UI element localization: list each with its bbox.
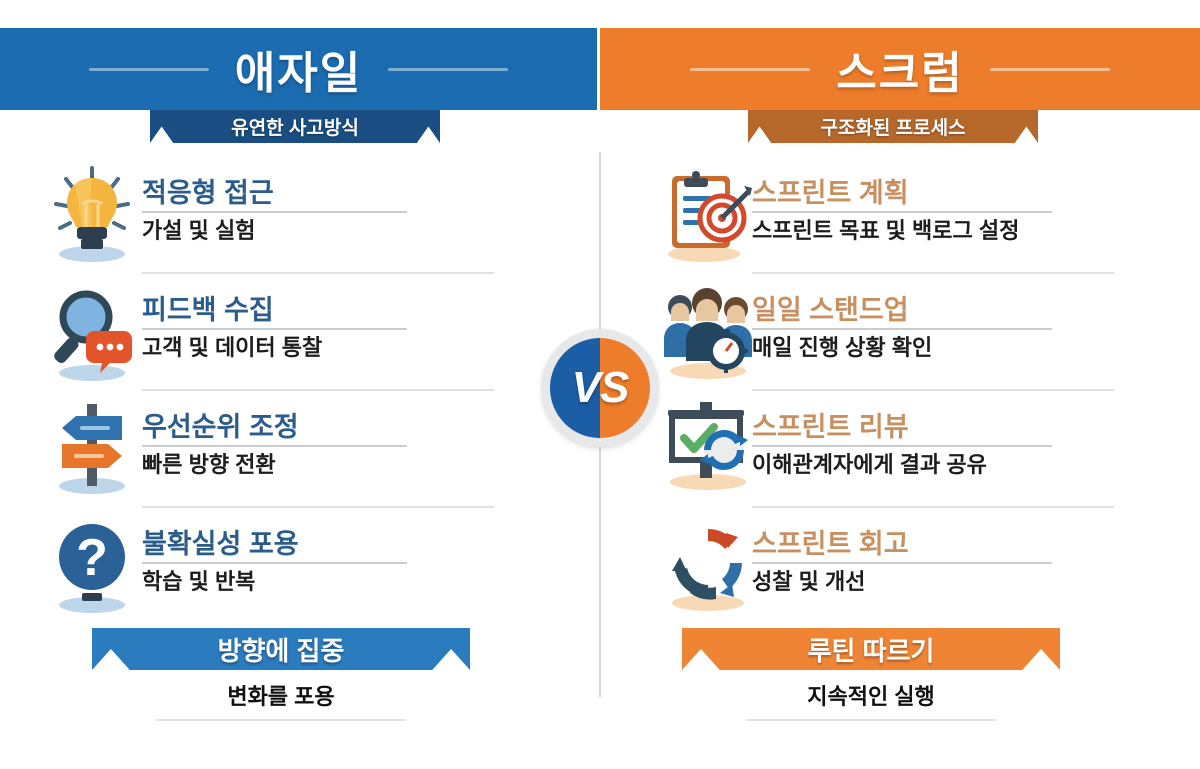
item-title: 일일 스탠드업 [752,295,1052,330]
vs-badge: VS [541,329,659,447]
item-body: 불확실성 포용 학습 및 반복 [142,511,502,595]
clipboard-target-icon [652,160,752,270]
header-rule-left [89,68,209,71]
item-title: 적응형 접근 [142,178,407,213]
right-banner-subtitle: 지속적인 실행 [682,679,1060,711]
left-subtitle-ribbon: 유연한 사고방식 [150,110,440,143]
left-banner-title: 방향에 집중 [218,631,345,668]
item-title: 피드백 수집 [142,295,407,330]
item-subtitle: 스프린트 목표 및 백로그 설정 [752,218,1122,243]
item-subtitle: 매일 진행 상황 확인 [752,335,1122,360]
left-header-title: 애자일 [209,37,388,101]
left-header-bar: 애자일 [0,28,597,110]
list-item: ? 불확실성 포용 학습 및 반복 [42,511,502,628]
right-banner-title: 루틴 따르기 [808,631,935,668]
svg-text:?: ? [76,529,108,587]
item-body: 우선순위 조정 빠른 방향 전환 [142,394,502,478]
column-divider-bottom [599,432,601,697]
left-banner-subtitle: 변화를 포용 [92,679,470,711]
item-subtitle: 가설 및 실험 [142,218,502,243]
item-body: 스프린트 회고 성찰 및 개선 [752,511,1122,595]
list-item: 우선순위 조정 빠른 방향 전환 [42,394,502,511]
team-stopwatch-icon [652,277,752,387]
list-item: 스프린트 리뷰 이해관계자에게 결과 공유 [652,394,1122,511]
header-rule-right [990,68,1110,71]
item-title: 스프린트 회고 [752,529,1052,564]
item-subtitle: 빠른 방향 전환 [142,452,502,477]
item-body: 일일 스탠드업 매일 진행 상황 확인 [752,277,1122,361]
right-header-title: 스크럼 [810,37,989,101]
item-subtitle: 성찰 및 개선 [752,569,1122,594]
list-item: 일일 스탠드업 매일 진행 상황 확인 [652,277,1122,394]
question-mark-icon: ? [42,511,142,621]
vs-circle: VS [550,338,650,438]
list-item: 스프린트 회고 성찰 및 개선 [652,511,1122,628]
header-rule-right [388,68,508,71]
item-subtitle: 고객 및 데이터 통찰 [142,335,502,360]
right-subtitle-ribbon: 구조화된 프로세스 [748,110,1038,143]
cycle-arrows-icon [652,511,752,621]
magnifier-chat-icon [42,277,142,387]
right-bottom-banner: 루틴 따르기 지속적인 실행 [682,628,1060,721]
right-column: 스프린트 계획 스프린트 목표 및 백로그 설정 [652,160,1122,628]
left-banner-bar: 방향에 집중 [92,628,470,670]
list-item: 적응형 접근 가설 및 실험 [42,160,502,277]
item-title: 불확실성 포용 [142,529,407,564]
item-body: 스프린트 리뷰 이해관계자에게 결과 공유 [752,394,1122,478]
left-banner-rule [156,719,406,721]
list-item: 스프린트 계획 스프린트 목표 및 백로그 설정 [652,160,1122,277]
right-banner-rule [746,719,996,721]
left-ribbon-text: 유연한 사고방식 [231,113,359,140]
item-body: 피드백 수집 고객 및 데이터 통찰 [142,277,502,361]
header-rule-left [690,68,810,71]
vs-label: VS [572,363,629,413]
item-subtitle: 학습 및 반복 [142,569,502,594]
item-title: 우선순위 조정 [142,412,407,447]
right-banner-bar: 루틴 따르기 [682,628,1060,670]
column-divider-top [599,152,601,332]
item-title: 스프린트 리뷰 [752,412,1052,447]
item-body: 스프린트 계획 스프린트 목표 및 백로그 설정 [752,160,1122,244]
left-bottom-banner: 방향에 집중 변화를 포용 [92,628,470,721]
right-ribbon-text: 구조화된 프로세스 [820,113,965,140]
item-title: 스프린트 계획 [752,178,1052,213]
list-item: 피드백 수집 고객 및 데이터 통찰 [42,277,502,394]
item-body: 적응형 접근 가설 및 실험 [142,160,502,244]
lightbulb-icon [42,160,142,270]
whiteboard-refresh-icon [652,394,752,504]
signpost-icon [42,394,142,504]
right-header-bar: 스크럼 [600,28,1200,110]
infographic-page: 애자일 유연한 사고방식 스크럼 구조화된 프로세스 VS [0,0,1200,769]
item-subtitle: 이해관계자에게 결과 공유 [752,452,1122,477]
left-column: 적응형 접근 가설 및 실험 피드백 수집 고객 및 데이 [42,160,502,628]
